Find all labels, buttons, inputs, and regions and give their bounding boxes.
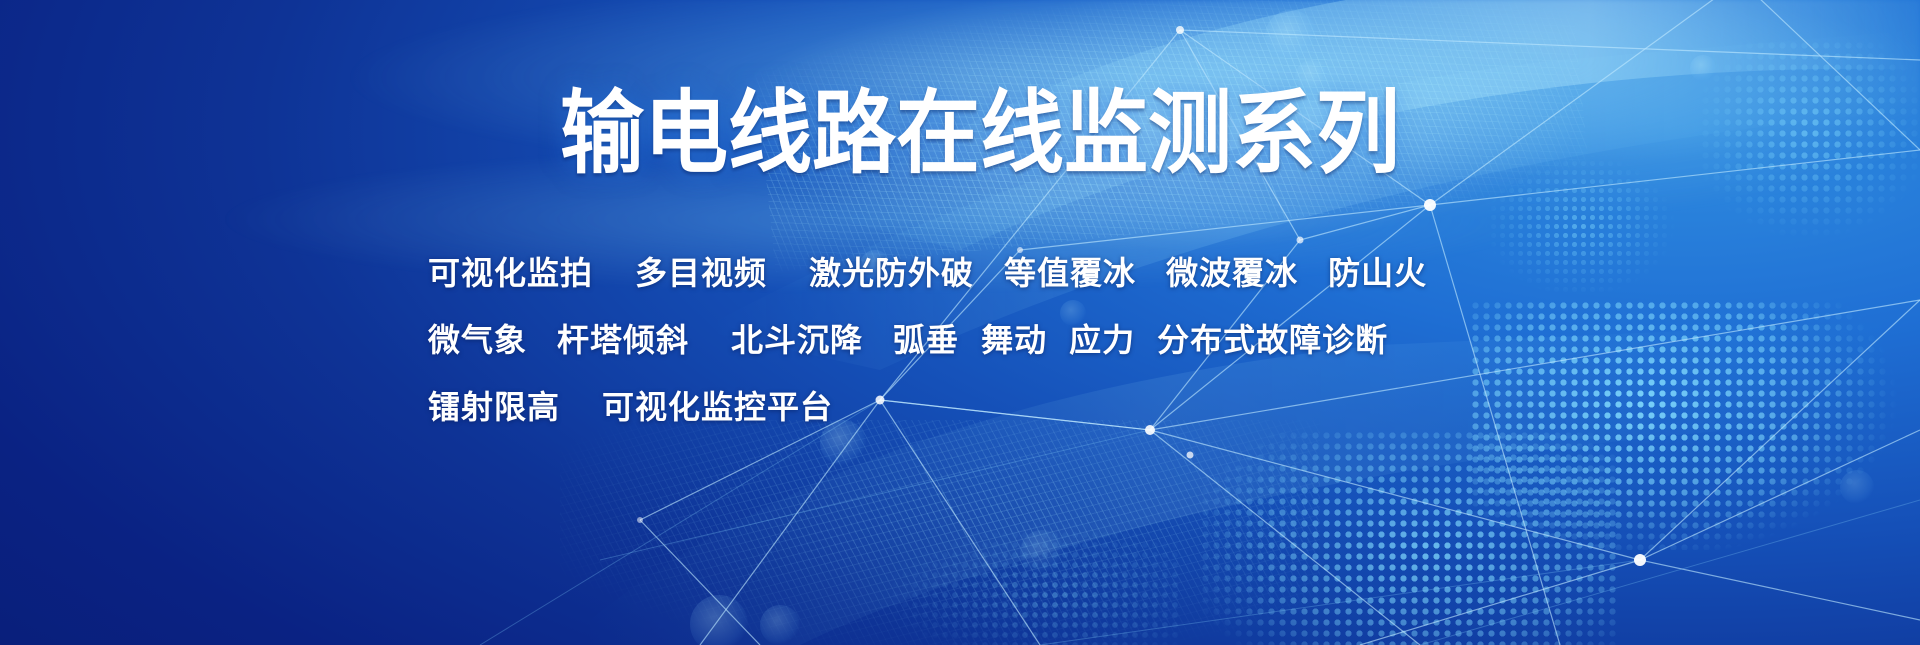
tag-visual-monitoring-platform[interactable]: 可视化监控平台 [602,382,833,428]
tag-laser-height-limit[interactable]: 镭射限高 [428,382,560,428]
tag-distributed-fault-diagnosis[interactable]: 分布式故障诊断 [1157,315,1388,361]
tag-beidou-settlement[interactable]: 北斗沉降 [731,315,863,361]
tag-row: 可视化监拍 多目视频 激光防外破 等值覆冰 微波覆冰 防山火 [428,248,1528,292]
tag-laser-anti-damage[interactable]: 激光防外破 [809,248,974,294]
tag-visual-monitoring[interactable]: 可视化监拍 [428,248,593,294]
banner-title: 输电线路在线监测系列 [560,88,1400,179]
banner-content: 输电线路在线监测系列 可视化监拍 多目视频 激光防外破 等值覆冰 微波覆冰 防山… [0,0,1920,645]
tag-row: 微气象 杆塔倾斜 北斗沉降 弧垂 舞动 应力 分布式故障诊断 [428,315,1528,359]
tag-equivalent-icing[interactable]: 等值覆冰 [1004,248,1136,294]
tag-microwave-icing[interactable]: 微波覆冰 [1166,248,1298,294]
tag-sag[interactable]: 弧垂 [893,315,959,361]
tag-micro-meteorology[interactable]: 微气象 [428,315,527,361]
tag-galloping[interactable]: 舞动 [981,315,1047,361]
tag-wildfire-prevention[interactable]: 防山火 [1328,248,1427,294]
promo-banner: 输电线路在线监测系列 可视化监拍 多目视频 激光防外破 等值覆冰 微波覆冰 防山… [0,0,1920,645]
tag-stress[interactable]: 应力 [1069,315,1135,361]
product-tag-list: 可视化监拍 多目视频 激光防外破 等值覆冰 微波覆冰 防山火 微气象 杆塔倾斜 … [428,248,1528,449]
tag-multi-camera-video[interactable]: 多目视频 [635,248,767,294]
tag-tower-tilt[interactable]: 杆塔倾斜 [557,315,689,361]
tag-row: 镭射限高 可视化监控平台 [428,382,1528,426]
